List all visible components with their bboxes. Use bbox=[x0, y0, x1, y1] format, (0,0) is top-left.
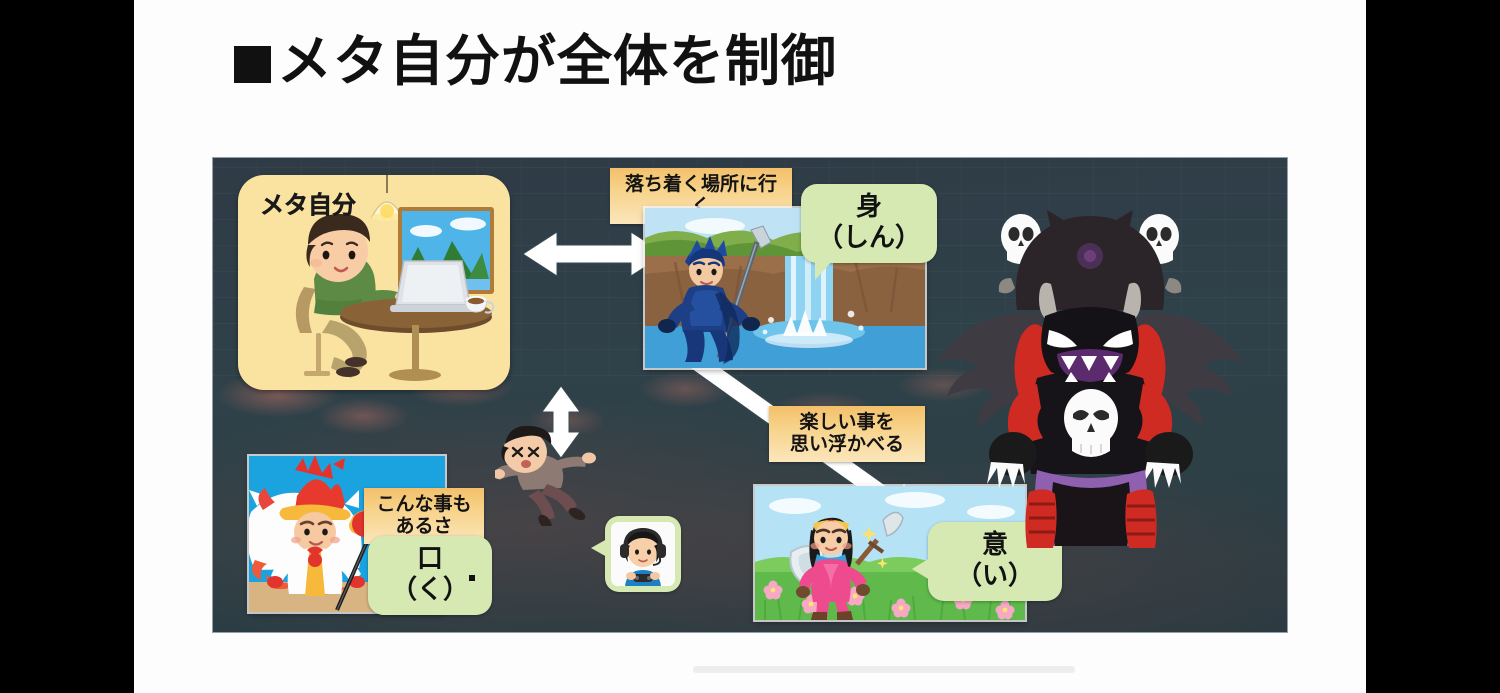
letterbox-right bbox=[1366, 0, 1500, 693]
meta-self-card[interactable]: メタ自分 bbox=[238, 175, 510, 390]
avatar bbox=[611, 522, 675, 586]
horizontal-scrollbar[interactable] bbox=[693, 666, 1075, 673]
slide-canvas: メタ自分が全体を制御 bbox=[134, 0, 1366, 693]
screenshot-stage: メタ自分が全体を制御 bbox=[0, 0, 1500, 693]
gamer-with-headset-illustration bbox=[611, 522, 675, 586]
tag-i[interactable]: 楽しい事を 思い浮かべる bbox=[769, 406, 925, 462]
diagram-canvas: メタ自分 落ち着く場所に行く bbox=[213, 158, 1287, 632]
bubble-ku[interactable]: 口 （く） bbox=[368, 536, 492, 615]
gamer-avatar-frame[interactable] bbox=[605, 516, 681, 592]
title-text: メタ自分が全体を制御 bbox=[277, 34, 837, 89]
letterbox-left bbox=[0, 0, 134, 693]
arrow-meta-to-shin bbox=[523, 230, 665, 278]
demon-lord-illustration bbox=[925, 206, 1255, 568]
meta-self-label: メタ自分 bbox=[260, 185, 356, 220]
page-title: メタ自分が全体を制御 bbox=[234, 34, 837, 89]
bubble-shin[interactable]: 身 （しん） bbox=[801, 184, 937, 263]
title-bullet-icon bbox=[234, 46, 271, 83]
fainted-person-illustration bbox=[495, 426, 617, 526]
